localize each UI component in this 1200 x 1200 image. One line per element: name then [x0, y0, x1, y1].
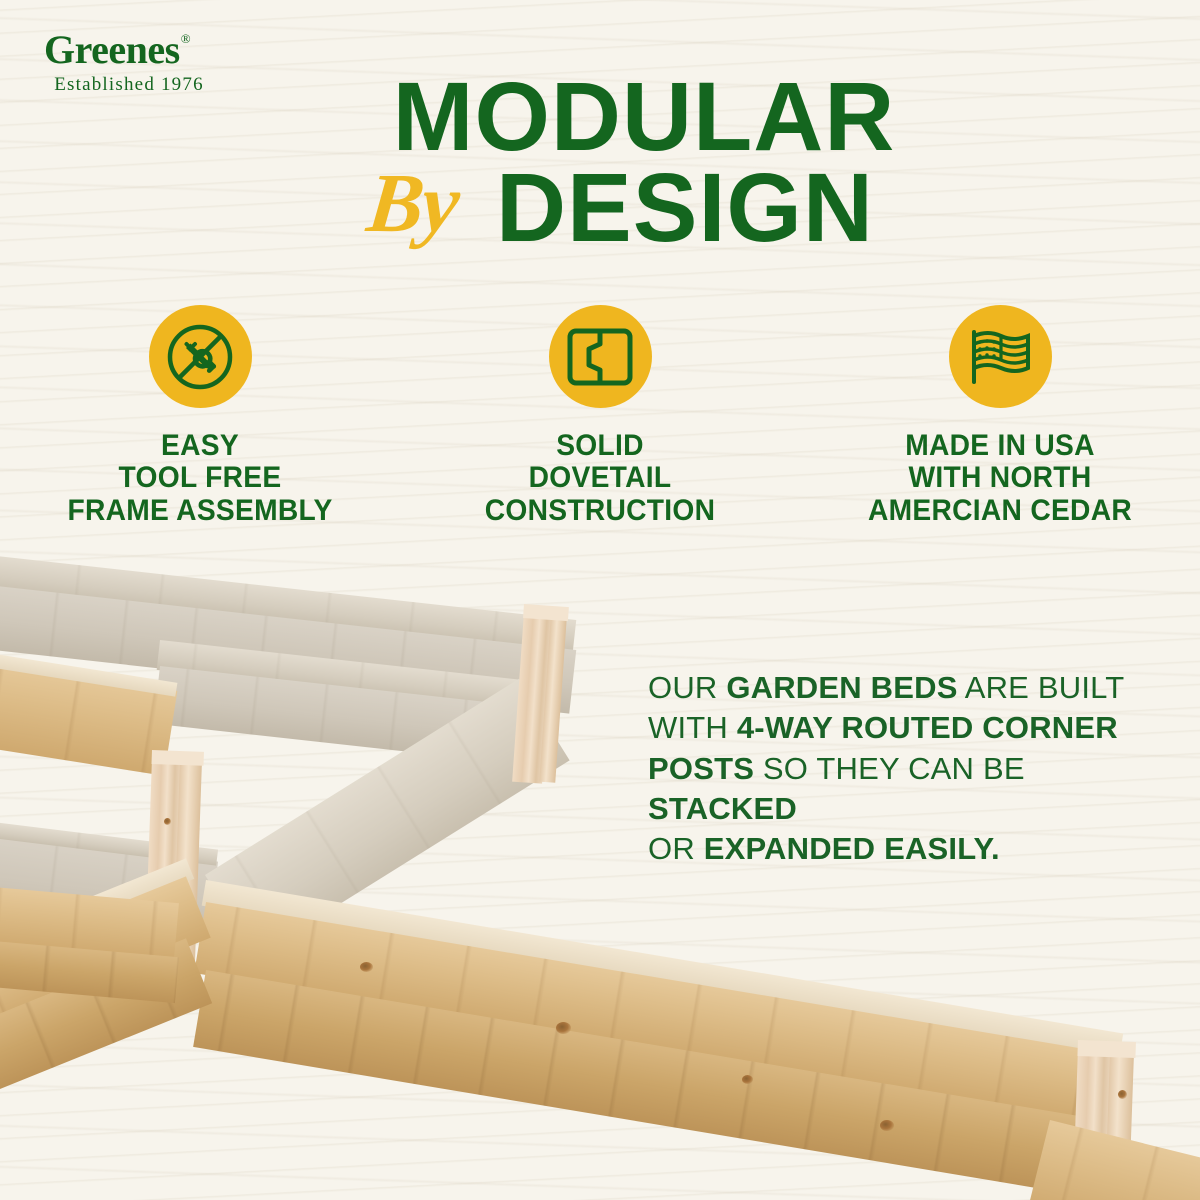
feature-label-line3: FRAME ASSEMBLY — [31, 495, 369, 527]
headline: MODULAR By DESIGN — [0, 72, 1200, 265]
wood-knot — [742, 1075, 753, 1084]
feature-label-line2: DOVETAIL — [431, 462, 769, 494]
feature-dovetail: SOLID DOVETAIL CONSTRUCTION — [420, 305, 780, 527]
wood-knot — [164, 818, 171, 825]
feature-row: EASY TOOL FREE FRAME ASSEMBLY SOLID DOVE… — [0, 305, 1200, 527]
feature-label-line3: CONSTRUCTION — [431, 495, 769, 527]
copy-text: OR — [648, 831, 704, 866]
corner-post-bottom-right-notch — [1077, 1040, 1136, 1058]
feature-label-line1: MADE IN USA — [831, 430, 1169, 462]
copy-emphasis: POSTS — [648, 751, 754, 786]
feature-label-line1: EASY — [31, 430, 369, 462]
copy-text: WITH — [648, 710, 737, 745]
copy-text: SO THEY CAN BE — [754, 751, 1025, 786]
copy-emphasis: GARDEN BEDS — [726, 670, 957, 705]
copy-emphasis: EXPANDED EASILY. — [704, 831, 1000, 866]
screw-hole — [1118, 1090, 1127, 1099]
copy-emphasis: STACKED — [648, 791, 797, 826]
headline-word-design: DESIGN — [496, 159, 874, 256]
headline-line-by-design: By DESIGN — [44, 161, 1200, 265]
feature-badge — [149, 305, 252, 408]
copy-text: OUR — [648, 670, 726, 705]
dovetail-joint-icon — [566, 327, 634, 387]
body-copy-line-3: POSTS SO THEY CAN BE STACKED — [648, 749, 1148, 830]
headline-script-by: By — [363, 155, 463, 252]
corner-post-center-notch — [152, 750, 204, 766]
feature-made-in-usa: MADE IN USA WITH NORTH AMERCIAN CEDAR — [820, 305, 1180, 527]
usa-flag-icon — [966, 326, 1034, 388]
feature-badge — [949, 305, 1052, 408]
feature-label-line2: TOOL FREE — [31, 462, 369, 494]
copy-text: ARE BUILT — [958, 670, 1125, 705]
feature-label-line3: AMERCIAN CEDAR — [831, 495, 1169, 527]
brand-wordmark: Greenes® — [44, 30, 214, 70]
feature-badge — [549, 305, 652, 408]
wood-knot — [556, 1022, 571, 1034]
headline-line-modular: MODULAR — [44, 72, 1200, 161]
registered-trademark-icon: ® — [181, 31, 191, 46]
wood-knot — [880, 1120, 894, 1131]
wood-knot — [360, 962, 373, 972]
feature-tool-free: EASY TOOL FREE FRAME ASSEMBLY — [20, 305, 380, 527]
feature-label-line1: SOLID — [431, 430, 769, 462]
body-copy-line-4: OR EXPANDED EASILY. — [648, 829, 1148, 869]
copy-emphasis: 4-WAY ROUTED CORNER — [737, 710, 1118, 745]
no-tools-icon — [164, 321, 236, 393]
body-copy: OUR GARDEN BEDS ARE BUILT WITH 4-WAY ROU… — [648, 668, 1148, 869]
body-copy-line-1: OUR GARDEN BEDS ARE BUILT — [648, 668, 1148, 708]
body-copy-line-2: WITH 4-WAY ROUTED CORNER — [648, 708, 1148, 748]
feature-label-line2: WITH NORTH — [831, 462, 1169, 494]
brand-name: Greenes — [44, 30, 180, 70]
infographic-canvas: Greenes® Established 1976 MODULAR By DES… — [0, 0, 1200, 1200]
